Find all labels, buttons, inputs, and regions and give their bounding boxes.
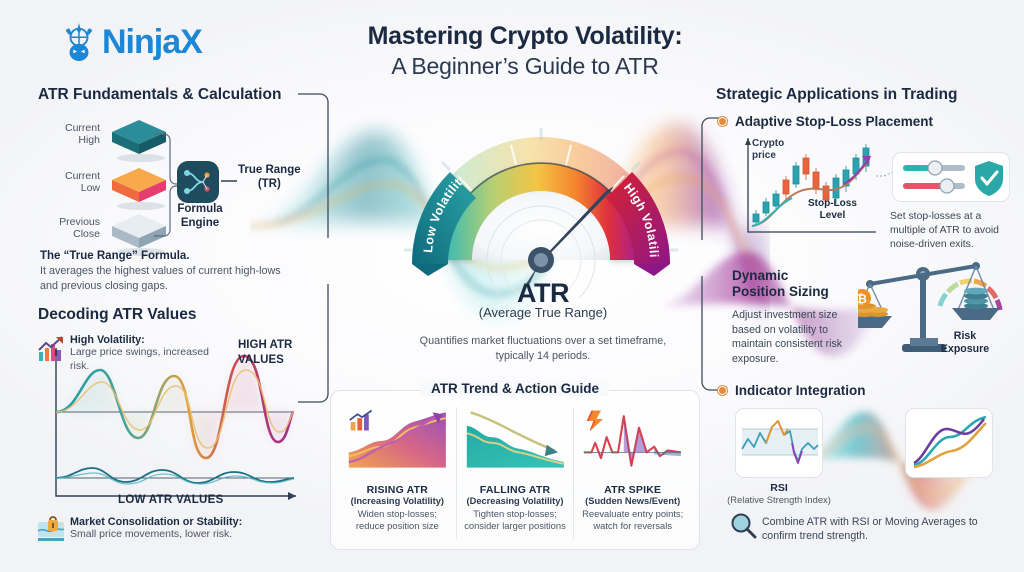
gauge-subtitle: (Average True Range) [418, 305, 668, 320]
guide-body-falling: Tighten stop-losses; consider larger pos… [463, 508, 568, 533]
svg-text:₿: ₿ [858, 292, 867, 306]
low-atr-values-axis-label: LOW ATR VALUES [118, 494, 224, 506]
brand-name: NinjaX [102, 25, 202, 59]
stop-loss-settings-card [892, 152, 1010, 202]
rsi-thumbnail-card [735, 408, 823, 478]
strategic-title-position-sizing: Dynamic Position Sizing [732, 268, 829, 301]
market-consolidation-title: Market Consolidation or Stability: [70, 516, 310, 528]
guide-subtitle-spike: (Sudden News/Event) [580, 496, 685, 506]
indicator-integration-note: Combine ATR with RSI or Moving Averages … [762, 515, 992, 543]
rising-chart-icon [345, 407, 450, 473]
high-volatility-icon [36, 334, 66, 364]
engine-to-output-connector [221, 178, 237, 184]
high-atr-values-tag: HIGH ATR VALUES [238, 338, 292, 368]
brand-logo[interactable]: NinjaX [60, 22, 202, 62]
guide-column-spike: ATR SPIKE (Sudden News/Event) Reevaluate… [573, 407, 691, 539]
bullet-dot-icon [718, 117, 727, 126]
rsi-label: RSI [735, 482, 823, 494]
moving-averages-icon [906, 409, 993, 478]
guide-column-falling: FALLING ATR (Decreasing Volatility) Tigh… [456, 407, 574, 539]
strategic-item-1-header: Adaptive Stop-Loss Placement [718, 114, 933, 129]
crypto-price-axis-label: Crypto price [752, 138, 784, 161]
guide-body-spike: Reevaluate entry points; watch for rever… [580, 508, 685, 533]
stop-loss-note: Set stop-losses at a multiple of ATR to … [890, 210, 1018, 252]
guide-title-falling: FALLING ATR [463, 484, 568, 496]
headline-line-2: A Beginner’s Guide to ATR [330, 52, 720, 82]
connector-bracket-right [700, 110, 726, 400]
guide-column-rising: RISING ATR (Increasing Volatility) Widen… [339, 407, 456, 539]
bullet-dot-icon [718, 386, 727, 395]
lightning-bolt-icon [580, 407, 685, 473]
section-heading-decoding: Decoding ATR Values [38, 306, 196, 324]
strategic-title-indicator: Indicator Integration [735, 383, 866, 398]
formula-engine-label: Formula Engine [168, 202, 232, 231]
input-label-previous-close: Previous Close [40, 216, 100, 240]
high-volatility-note: High Volatility: Large price swings, inc… [70, 334, 230, 373]
high-volatility-body: Large price swings, increased risk. [70, 346, 230, 373]
guide-body-rising: Widen stop-losses; reduce position size [345, 508, 450, 533]
rsi-sublabel: (Relative Strength Index) [715, 494, 843, 505]
formula-engine-icon [176, 160, 220, 204]
input-label-current-low: Current Low [40, 170, 100, 194]
section-heading-strategic: Strategic Applications in Trading [716, 86, 957, 104]
formula-blurb-title: The “True Range” Formula. [40, 250, 290, 262]
guide-subtitle-falling: (Decreasing Volatility) [463, 496, 568, 506]
gauge-description: Quantifies market fluctuations over a se… [408, 334, 678, 364]
falling-chart-icon [463, 407, 568, 473]
magnifier-icon [730, 512, 758, 540]
guide-subtitle-rising: (Increasing Volatility) [345, 496, 450, 506]
guide-title-spike: ATR SPIKE [580, 484, 685, 496]
market-consolidation-note: Market Consolidation or Stability: Small… [70, 516, 310, 542]
strategic-item-3-header: Indicator Integration [718, 383, 866, 398]
shield-check-icon [975, 161, 1003, 196]
risk-exposure-label: Risk Exposure [928, 330, 1002, 355]
position-sizing-note: Adjust investment size based on volatili… [732, 308, 852, 366]
market-consolidation-body: Small price movements, lower risk. [70, 528, 310, 542]
guide-title: ATR Trend & Action Guide [421, 381, 609, 396]
high-volatility-title: High Volatility: [70, 334, 230, 346]
input-label-current-high: Current High [40, 122, 100, 146]
infographic-canvas: NinjaX Mastering Crypto Volatility: A Be… [0, 0, 1024, 572]
stop-loss-level-annotation: Stop-Loss Level [808, 198, 857, 222]
true-range-formula-blurb: The “True Range” Formula. It averages th… [40, 250, 290, 293]
page-title: Mastering Crypto Volatility: A Beginner’… [330, 22, 720, 81]
rsi-oscillator-icon [736, 409, 823, 478]
formula-blurb-body: It averages the highest values of curren… [40, 264, 290, 293]
guide-title-rising: RISING ATR [345, 484, 450, 496]
strategic-title-stop-loss: Adaptive Stop-Loss Placement [735, 114, 933, 129]
market-consolidation-icon [36, 514, 66, 544]
headline-line-1: Mastering Crypto Volatility: [330, 22, 720, 52]
trend-action-guide-card: ATR Trend & Action Guide [330, 390, 700, 550]
ninja-mask-logo-icon [60, 22, 98, 62]
true-range-output-label: True Range (TR) [238, 163, 301, 192]
section-heading-fundamentals: ATR Fundamentals & Calculation [38, 86, 281, 104]
moving-averages-thumbnail-card [905, 408, 993, 478]
atr-gauge: Low Volatility High Volatility [398, 118, 684, 298]
